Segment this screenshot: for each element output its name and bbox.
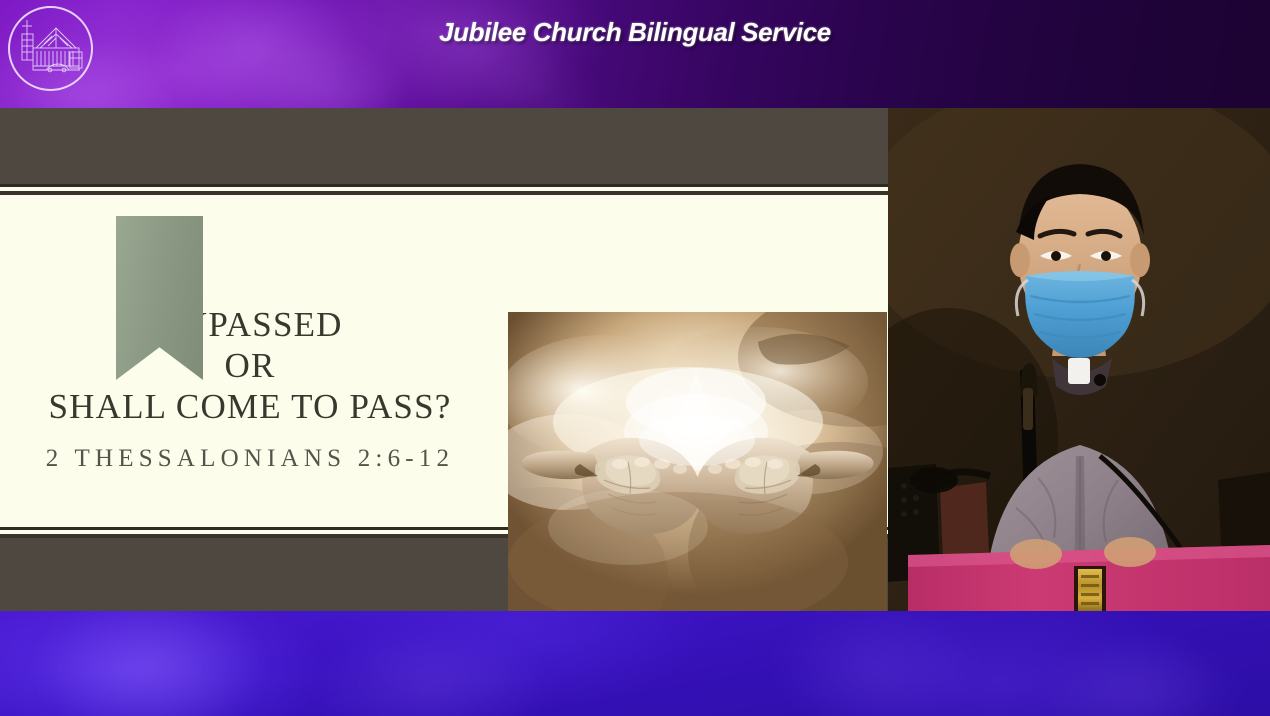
divider-line — [0, 191, 888, 195]
slide-title-line-2: OR — [0, 345, 500, 386]
slide-title-block: BYPASSED OR SHALL COME TO PASS? — [0, 304, 500, 427]
slide-title-line-1: BYPASSED — [0, 304, 500, 345]
smoke-wisp — [760, 611, 990, 716]
stream-title-text: Jubilee Church Bilingual Service — [439, 17, 831, 48]
smoke-wisp — [1030, 631, 1250, 716]
stream-top-banner: Jubilee Church Bilingual Service — [0, 0, 1270, 108]
slide-scripture-reference: 2 THESSALONIANS 2:6-12 — [0, 445, 500, 473]
stream-bottom-banner — [0, 611, 1270, 716]
speaker-video-feed[interactable] — [888, 108, 1270, 611]
presentation-slide: BYPASSED OR SHALL COME TO PASS? 2 THESSA… — [0, 108, 888, 611]
live-stream-view: Jubilee Church Bilingual Service BYPASSE… — [0, 0, 1270, 716]
smoke-wisp — [30, 611, 270, 716]
slide-title-line-3: SHALL COME TO PASS? — [0, 386, 500, 427]
slide-photo-hands-in-clouds — [508, 312, 887, 611]
smoke-wisp — [300, 621, 560, 716]
stream-title: Jubilee Church Bilingual Service — [0, 0, 1270, 108]
slide-divider-top — [0, 184, 888, 196]
